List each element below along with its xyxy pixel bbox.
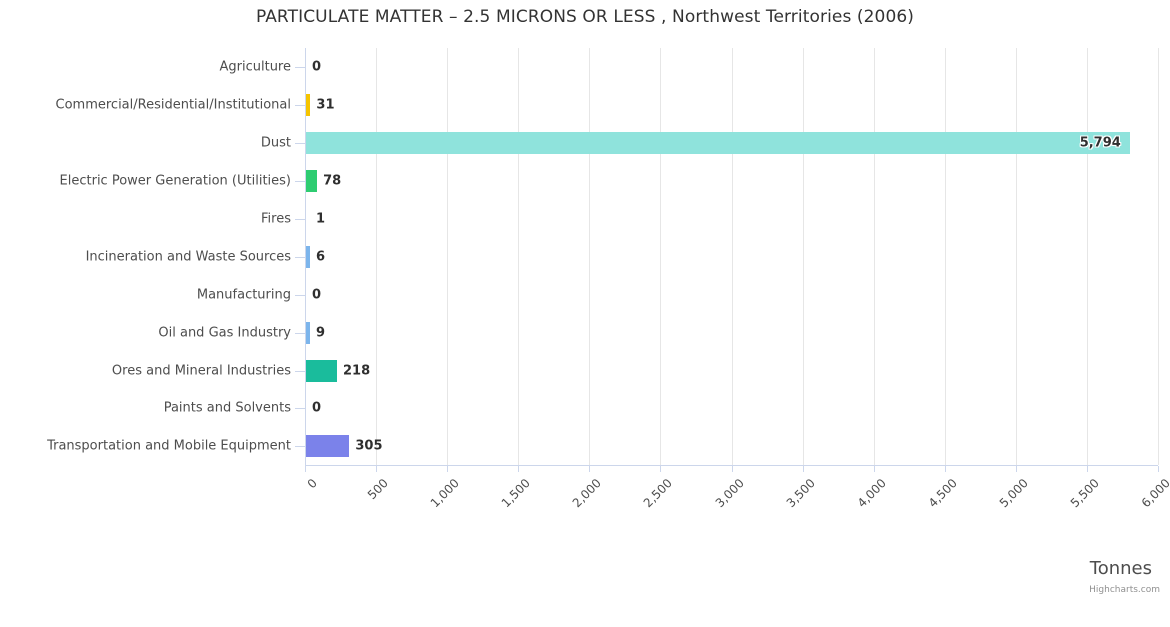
x-axis-tick-mark — [376, 466, 377, 472]
x-axis-title: Tonnes — [1090, 558, 1152, 579]
bar-value-label: 5,794 — [1080, 136, 1121, 151]
y-axis-tick-mark — [295, 333, 305, 334]
chart-bar[interactable] — [306, 170, 317, 192]
x-axis-tick-label: 0 — [169, 476, 320, 627]
chart-bar-row[interactable]: Dust5,794 — [0, 124, 1170, 163]
bar-value-label: 9 — [316, 325, 325, 340]
x-axis-tick-mark — [1087, 466, 1088, 472]
x-axis-tick-mark — [447, 466, 448, 472]
chart-bar-row[interactable]: Transportation and Mobile Equipment305 — [0, 427, 1170, 466]
x-axis-tick-label: 1,000 — [311, 476, 462, 627]
chart-bar[interactable] — [306, 94, 310, 116]
chart-bar[interactable] — [306, 435, 349, 457]
chart-bar[interactable] — [306, 360, 337, 382]
bar-value-label: 0 — [312, 287, 321, 302]
highcharts-credit: Highcharts.com — [1089, 585, 1160, 595]
chart-bar-row[interactable]: Agriculture0 — [0, 48, 1170, 87]
x-axis-tick-mark — [305, 466, 306, 472]
x-axis-tick-label: 6,000 — [1022, 476, 1170, 627]
y-axis-tick-mark — [295, 143, 305, 144]
x-axis-tick-label: 500 — [240, 476, 391, 627]
x-axis-tick-mark — [589, 466, 590, 472]
x-axis-tick-mark — [945, 466, 946, 472]
x-axis-tick-mark — [1016, 466, 1017, 472]
y-axis-category-label: Commercial/Residential/Institutional — [56, 98, 292, 113]
y-axis-tick-mark — [295, 67, 305, 68]
bar-value-label: 305 — [355, 439, 382, 454]
chart-bar[interactable] — [306, 246, 310, 268]
y-axis-tick-mark — [295, 408, 305, 409]
x-axis-tick-mark — [518, 466, 519, 472]
x-axis-tick-label: 3,500 — [666, 476, 817, 627]
x-axis-tick-mark — [732, 466, 733, 472]
y-axis-category-label: Transportation and Mobile Equipment — [47, 439, 291, 454]
bar-value-label: 1 — [316, 211, 325, 226]
x-axis-tick-mark — [1158, 466, 1159, 472]
chart-bar-row[interactable]: Fires1 — [0, 200, 1170, 239]
y-axis-tick-mark — [295, 446, 305, 447]
y-axis-category-label: Manufacturing — [197, 287, 291, 302]
x-axis-tick-label: 5,000 — [879, 476, 1030, 627]
y-axis-tick-mark — [295, 295, 305, 296]
y-axis-tick-mark — [295, 105, 305, 106]
y-axis-tick-mark — [295, 219, 305, 220]
chart-bar-row[interactable]: Commercial/Residential/Institutional31 — [0, 86, 1170, 125]
y-axis-category-label: Agriculture — [220, 60, 292, 75]
bar-value-label: 0 — [312, 60, 321, 75]
x-axis-tick-mark — [660, 466, 661, 472]
chart-bar-row[interactable]: Electric Power Generation (Utilities)78 — [0, 162, 1170, 201]
bar-value-label: 6 — [316, 249, 325, 264]
bar-value-label: 31 — [316, 98, 334, 113]
x-axis-tick-label: 5,500 — [950, 476, 1101, 627]
bar-value-label: 78 — [323, 173, 341, 188]
y-axis-category-label: Electric Power Generation (Utilities) — [60, 173, 291, 188]
y-axis-tick-mark — [295, 257, 305, 258]
chart-bar-row[interactable]: Oil and Gas Industry9 — [0, 313, 1170, 352]
x-axis-tick-label: 3,000 — [595, 476, 746, 627]
chart-title: PARTICULATE MATTER – 2.5 MICRONS OR LESS… — [0, 7, 1170, 27]
bar-value-label: 0 — [312, 401, 321, 416]
chart-bar-row[interactable]: Paints and Solvents0 — [0, 389, 1170, 428]
bar-value-label: 218 — [343, 363, 370, 378]
y-axis-tick-mark — [295, 371, 305, 372]
chart-bar-row[interactable]: Manufacturing0 — [0, 275, 1170, 314]
y-axis-category-label: Dust — [261, 136, 291, 151]
y-axis-category-label: Paints and Solvents — [164, 401, 291, 416]
y-axis-tick-mark — [295, 181, 305, 182]
chart-bar[interactable] — [306, 132, 1130, 154]
chart-bar-row[interactable]: Ores and Mineral Industries218 — [0, 351, 1170, 390]
y-axis-category-label: Incineration and Waste Sources — [86, 249, 291, 264]
x-axis-tick-label: 1,500 — [382, 476, 533, 627]
x-axis-tick-label: 2,500 — [524, 476, 675, 627]
x-axis-tick-label: 4,500 — [808, 476, 959, 627]
x-axis-tick-mark — [803, 466, 804, 472]
x-axis-tick-mark — [874, 466, 875, 472]
chart-container: PARTICULATE MATTER – 2.5 MICRONS OR LESS… — [0, 0, 1170, 600]
y-axis-category-label: Fires — [261, 211, 291, 226]
chart-bar-row[interactable]: Incineration and Waste Sources6 — [0, 238, 1170, 277]
x-axis-tick-label: 2,000 — [453, 476, 604, 627]
x-axis-tick-label: 4,000 — [737, 476, 888, 627]
y-axis-category-label: Oil and Gas Industry — [158, 325, 291, 340]
chart-bar[interactable] — [306, 322, 310, 344]
y-axis-category-label: Ores and Mineral Industries — [112, 363, 291, 378]
